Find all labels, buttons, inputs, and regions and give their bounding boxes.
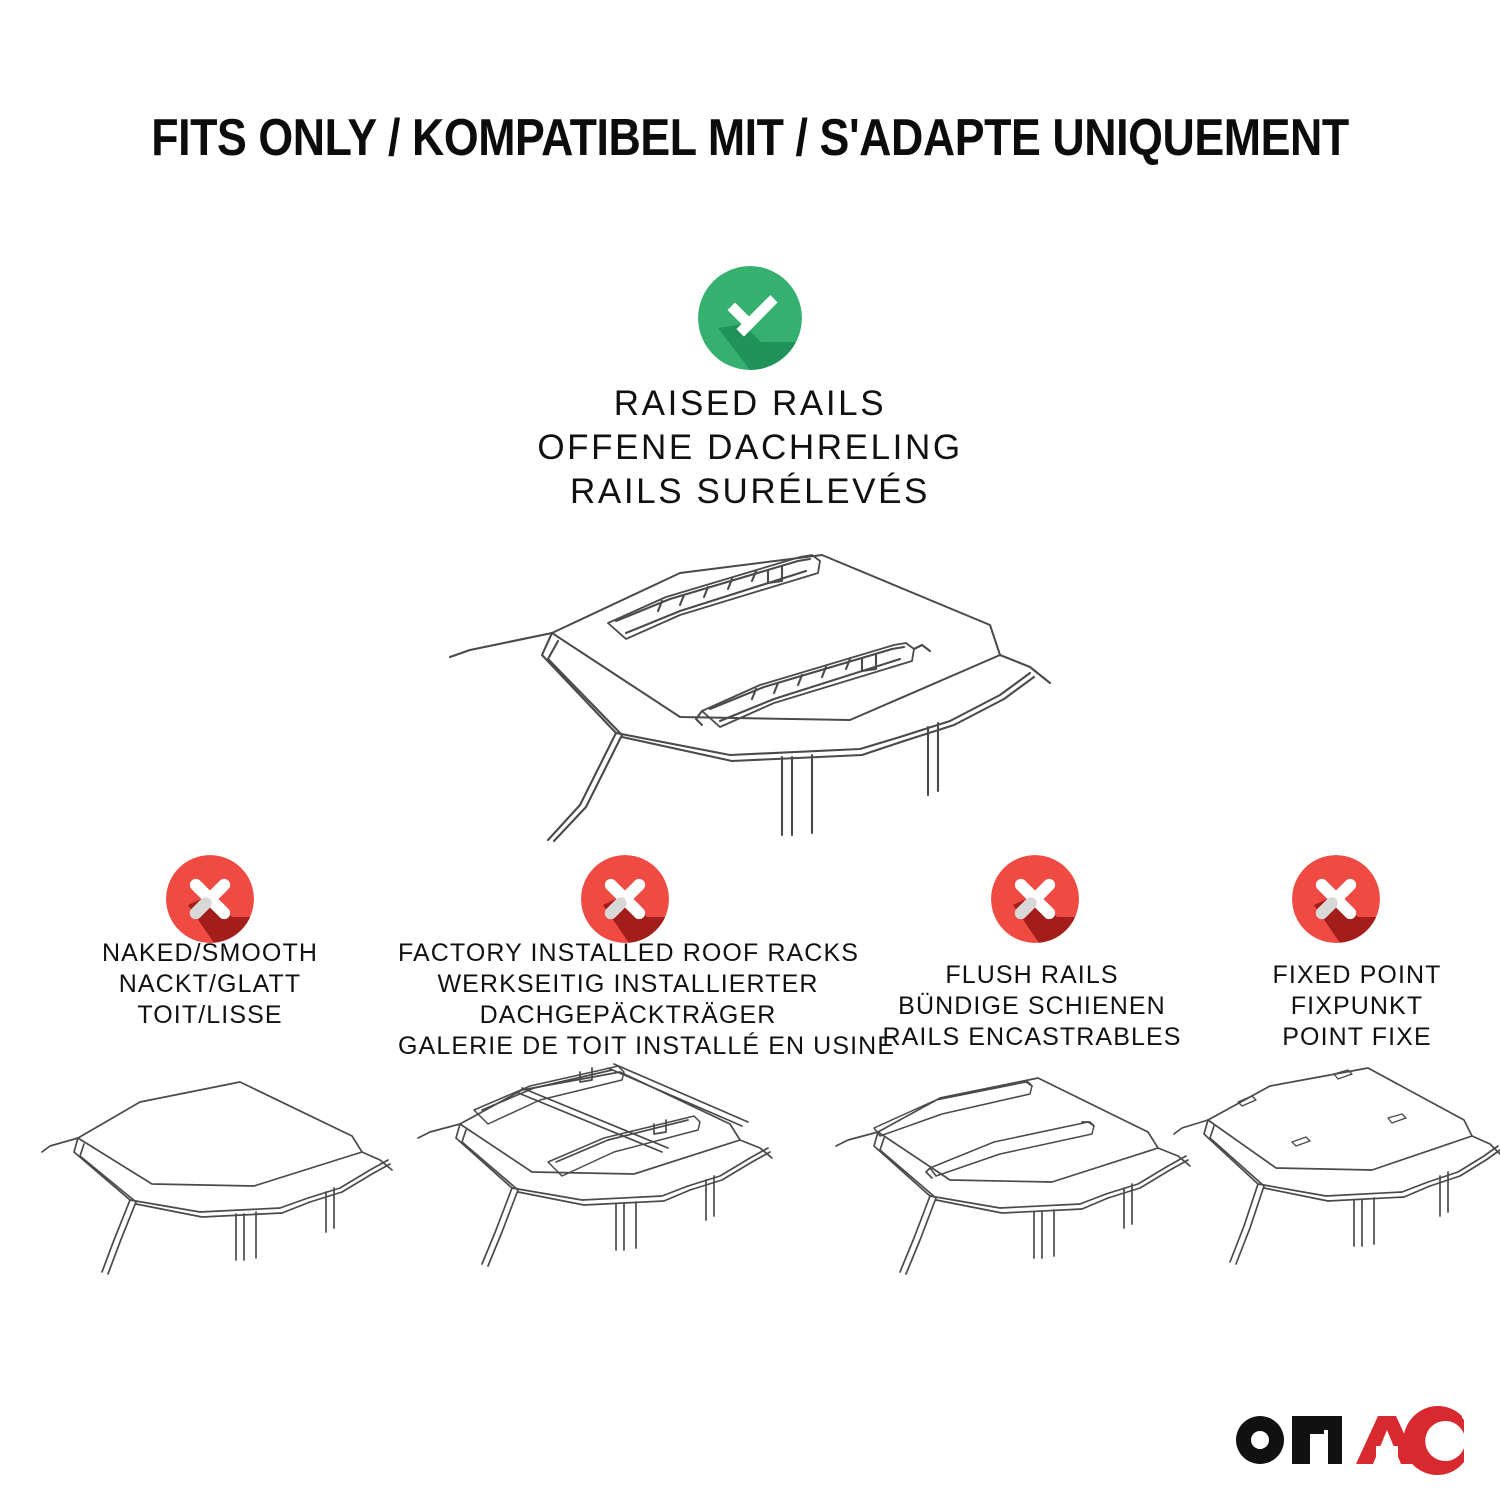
caption-line: OFFENE DACHRELING (330, 426, 1170, 470)
fixed-point-caption: FIXED POINT FIXPUNKT POINT FIXE (1222, 960, 1492, 1053)
check-circle-icon (698, 266, 802, 370)
caption-line: TOIT/LISSE (30, 1000, 390, 1031)
page-title: FITS ONLY / KOMPATIBEL MIT / S'ADAPTE UN… (105, 108, 1395, 168)
caption-line: NAKED/SMOOTH (30, 938, 390, 969)
caption-line: FLUSH RAILS (852, 960, 1212, 991)
flush-rails-caption: FLUSH RAILS BÜNDIGE SCHIENEN RAILS ENCAS… (852, 960, 1212, 1053)
compatible-caption: RAISED RAILS OFFENE DACHRELING RAILS SUR… (330, 382, 1170, 514)
caption-line: NACKT/GLATT (30, 969, 390, 1000)
caption-line: WERKSEITIG INSTALLIERTER (398, 969, 858, 1000)
caption-line: RAILS ENCASTRABLES (852, 1022, 1212, 1053)
caption-line: POINT FIXE (1222, 1022, 1492, 1053)
cross-circle-icon (991, 855, 1079, 943)
caption-line: FIXPUNKT (1222, 991, 1492, 1022)
car-roof-flush-rails-illustration (832, 1060, 1212, 1302)
caption-line: FACTORY INSTALLED ROOF RACKS (398, 938, 858, 969)
compatibility-infographic: FITS ONLY / KOMPATIBEL MIT / S'ADAPTE UN… (0, 0, 1500, 1500)
caption-line: DACHGEPÄCKTRÄGER (398, 1000, 858, 1031)
car-roof-naked-smooth-illustration (40, 1060, 400, 1300)
cross-circle-icon (581, 855, 669, 943)
car-roof-factory-roof-racks-illustration (412, 1058, 792, 1304)
caption-line: BÜNDIGE SCHIENEN (852, 991, 1212, 1022)
factory-roof-racks-caption: FACTORY INSTALLED ROOF RACKS WERKSEITIG … (398, 938, 858, 1062)
car-roof-fixed-point-illustration (1172, 1058, 1500, 1302)
naked-smooth-caption: NAKED/SMOOTH NACKT/GLATT TOIT/LISSE (30, 938, 390, 1031)
caption-line: FIXED POINT (1222, 960, 1492, 991)
cross-circle-icon (166, 855, 254, 943)
omac-logo (1226, 1406, 1466, 1476)
caption-line: RAISED RAILS (330, 382, 1170, 426)
car-roof-with-raised-rails-illustration (430, 505, 1070, 845)
cross-circle-icon (1292, 855, 1380, 943)
